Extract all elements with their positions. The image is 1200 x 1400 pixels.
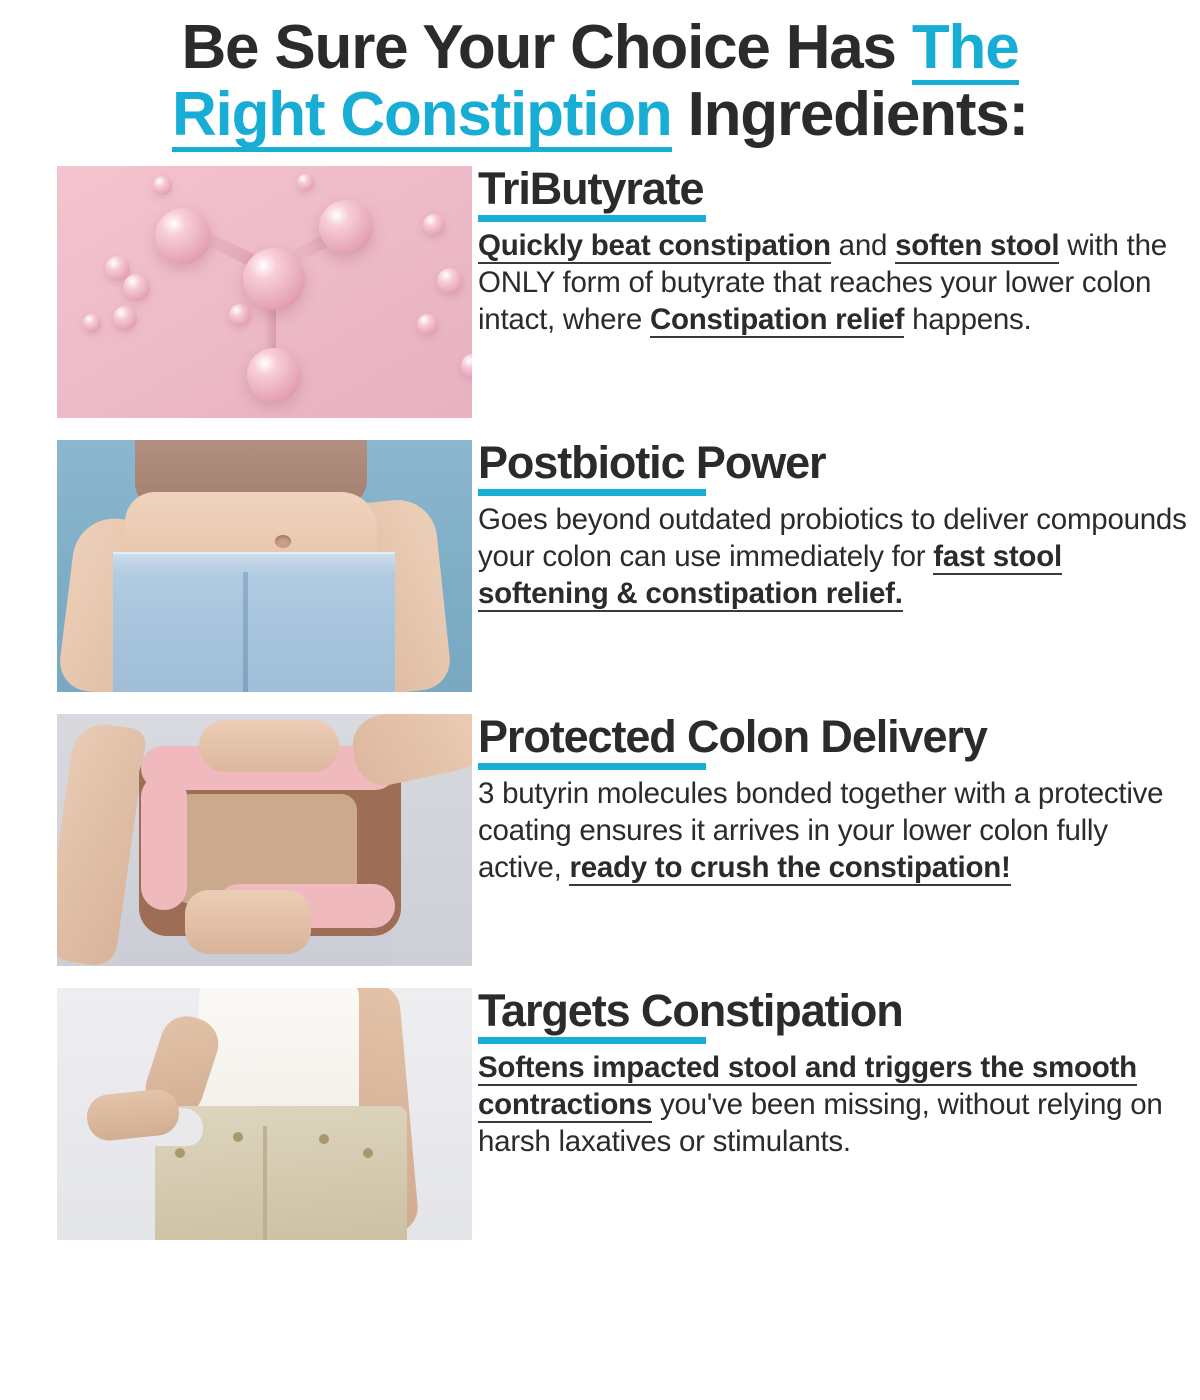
headline-accent-the: The (912, 19, 1019, 85)
emphasis-text: Quickly beat constipation (478, 229, 831, 264)
ingredient-row: TriButyrate Quickly beat constipation an… (0, 166, 1200, 418)
accent-rule (478, 215, 706, 222)
accent-rule (478, 1037, 706, 1044)
section-title: Targets Constipation (478, 988, 1192, 1033)
ingredient-copy: Targets Constipation Softens impacted st… (472, 988, 1200, 1161)
section-body: Quickly beat constipation and soften sto… (478, 227, 1192, 339)
ingredient-copy: Postbiotic Power Goes beyond outdated pr… (472, 440, 1200, 613)
colon-model-photo (57, 714, 472, 966)
section-title: Postbiotic Power (478, 440, 1192, 485)
molecule-illustration (57, 166, 472, 418)
section-body: Softens impacted stool and triggers the … (478, 1049, 1192, 1161)
emphasis-text: ready to crush the constipation! (569, 851, 1010, 886)
bloated-belly-jeans-photo (57, 440, 472, 692)
section-body: 3 butyrin molecules bonded together with… (478, 775, 1192, 887)
body-text: Goes beyond outdated probiotics to deliv… (478, 503, 1187, 573)
loose-pants-photo (57, 988, 472, 1240)
section-title: Protected Colon Delivery (478, 714, 1192, 759)
accent-rule (478, 489, 706, 496)
headline-part-2: Ingredients: (672, 80, 1028, 149)
emphasis-text: soften stool (895, 229, 1059, 264)
ingredient-copy: Protected Colon Delivery 3 butyrin molec… (472, 714, 1200, 887)
emphasis-text: Constipation relief (650, 303, 904, 338)
ingredient-row: Postbiotic Power Goes beyond outdated pr… (0, 440, 1200, 692)
ingredient-row: Targets Constipation Softens impacted st… (0, 988, 1200, 1240)
ingredient-row: Protected Colon Delivery 3 butyrin molec… (0, 714, 1200, 966)
section-body: Goes beyond outdated probiotics to deliv… (478, 501, 1192, 613)
body-text: happens. (904, 303, 1031, 336)
headline-accent-right-constiption: Right Constiption (172, 86, 672, 152)
body-text: and (831, 229, 895, 262)
page-headline: Be Sure Your Choice Has TheRight Constip… (0, 0, 1200, 152)
ingredient-copy: TriButyrate Quickly beat constipation an… (472, 166, 1200, 339)
ingredient-sections: TriButyrate Quickly beat constipation an… (0, 166, 1200, 1240)
headline-part-1: Be Sure Your Choice Has (181, 13, 911, 82)
accent-rule (478, 763, 706, 770)
section-title: TriButyrate (478, 166, 1192, 211)
